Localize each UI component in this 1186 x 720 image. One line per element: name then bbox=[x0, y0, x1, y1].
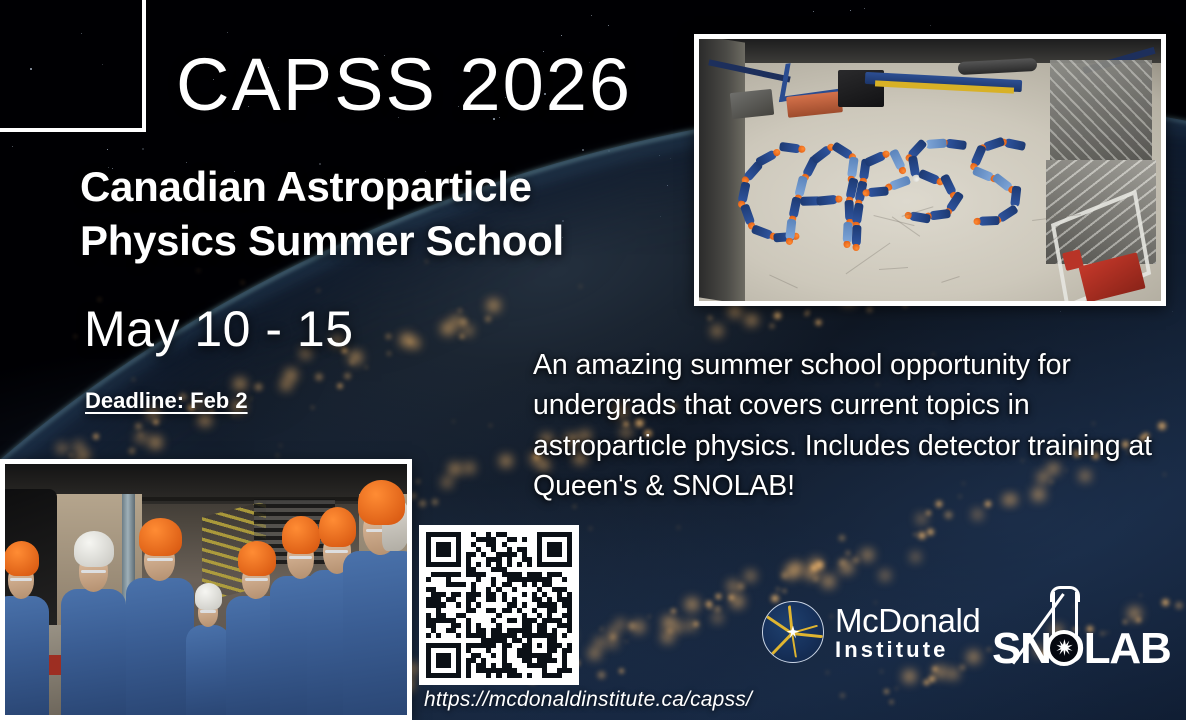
hard-hat-icon bbox=[835, 195, 843, 203]
website-url[interactable]: https://mcdonaldinstitute.ca/capss/ bbox=[424, 688, 752, 712]
photo-detector-tour bbox=[0, 459, 412, 720]
description-paragraph: An amazing summer school opportunity for… bbox=[533, 345, 1153, 507]
hard-hat-icon bbox=[798, 145, 806, 153]
logo-ray bbox=[791, 633, 797, 658]
hard-hat-icon bbox=[853, 243, 860, 250]
coverall bbox=[925, 138, 947, 148]
person-forming-letter bbox=[816, 194, 843, 205]
corner-bracket-decoration bbox=[0, 0, 146, 132]
blue-coverall bbox=[61, 589, 125, 715]
safety-glasses-icon bbox=[81, 570, 105, 573]
lab-equipment-rack-upper-right bbox=[1050, 60, 1152, 170]
hard-hat-icon bbox=[973, 218, 980, 225]
subtitle-line-1: Canadian Astroparticle bbox=[80, 160, 720, 214]
person-forming-letter bbox=[973, 216, 999, 226]
page-title: CAPSS 2026 bbox=[176, 48, 632, 122]
lab-workbench bbox=[730, 89, 774, 119]
mcdonald-label: McDonald bbox=[835, 604, 980, 637]
hard-hat-icon bbox=[843, 241, 850, 248]
student-in-coveralls bbox=[5, 549, 49, 715]
blue-coverall bbox=[126, 578, 194, 715]
logo-ray bbox=[791, 632, 823, 638]
hard-hat-icon bbox=[358, 480, 405, 525]
student-in-coveralls bbox=[186, 590, 230, 716]
safety-glasses-icon bbox=[200, 610, 217, 613]
blue-coverall bbox=[5, 596, 49, 715]
hard-hat-icon bbox=[74, 531, 114, 568]
hard-hat-icon bbox=[195, 583, 222, 609]
snolab-detector-cap-icon bbox=[1050, 586, 1080, 602]
student-in-coveralls bbox=[126, 534, 194, 715]
blue-coverall bbox=[186, 625, 230, 715]
subtitle-line-2: Physics Summer School bbox=[80, 214, 720, 268]
safety-glasses-icon bbox=[147, 558, 173, 561]
photo-capss-human-letters bbox=[694, 34, 1166, 306]
blue-coverall bbox=[343, 551, 407, 715]
poster-canvas: CAPSS 2026 Canadian Astroparticle Physic… bbox=[0, 0, 1186, 720]
mcdonald-institute-logo: McDonald Institute bbox=[762, 601, 980, 663]
student-in-coveralls bbox=[343, 499, 407, 715]
safety-glasses-icon bbox=[10, 578, 31, 581]
student-in-coveralls bbox=[61, 539, 125, 715]
institute-label: Institute bbox=[835, 639, 980, 661]
hard-hat-icon bbox=[5, 541, 39, 576]
mcdonald-institute-wordmark: McDonald Institute bbox=[835, 604, 980, 661]
lab-wall-left bbox=[699, 39, 745, 301]
coverall bbox=[852, 224, 862, 245]
safety-glasses-icon bbox=[245, 578, 268, 581]
subtitle: Canadian Astroparticle Physics Summer Sc… bbox=[80, 160, 720, 268]
hard-hat-icon bbox=[786, 238, 794, 246]
event-dates: May 10 - 15 bbox=[84, 300, 354, 358]
person-forming-letter bbox=[852, 224, 862, 250]
coverall bbox=[978, 216, 999, 226]
hard-hat-icon bbox=[139, 518, 181, 556]
application-deadline: Deadline: Feb 2 bbox=[85, 388, 248, 414]
mcdonald-institute-mark-icon bbox=[762, 601, 824, 663]
snolab-logo: SNOLAB bbox=[992, 586, 1144, 678]
qr-code-modules bbox=[426, 532, 572, 678]
logo-ray bbox=[769, 632, 793, 658]
qr-code[interactable] bbox=[419, 525, 579, 685]
